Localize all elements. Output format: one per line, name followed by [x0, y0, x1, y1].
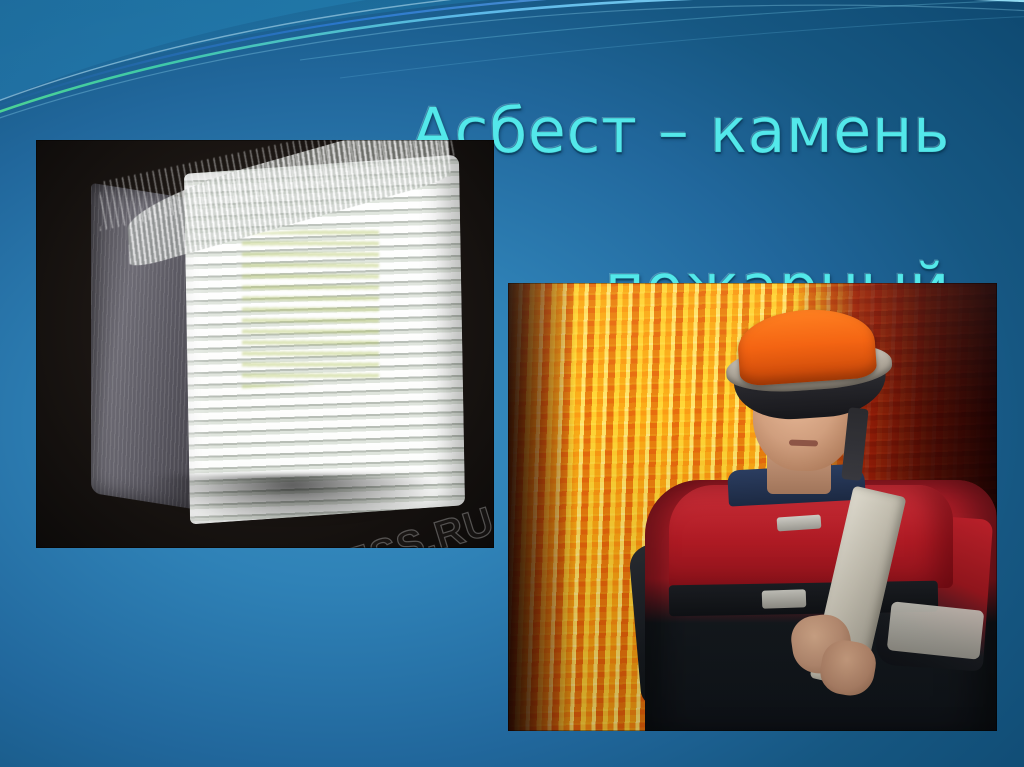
presentation-slide: Асбест – камень пожарный URALPRESS.RU [0, 0, 1024, 767]
asbestos-photo-edge [36, 140, 494, 548]
firefighter-image [508, 283, 997, 731]
firefighter-photo-edge [508, 283, 997, 731]
asbestos-rock-image: URALPRESS.RU [36, 140, 494, 548]
